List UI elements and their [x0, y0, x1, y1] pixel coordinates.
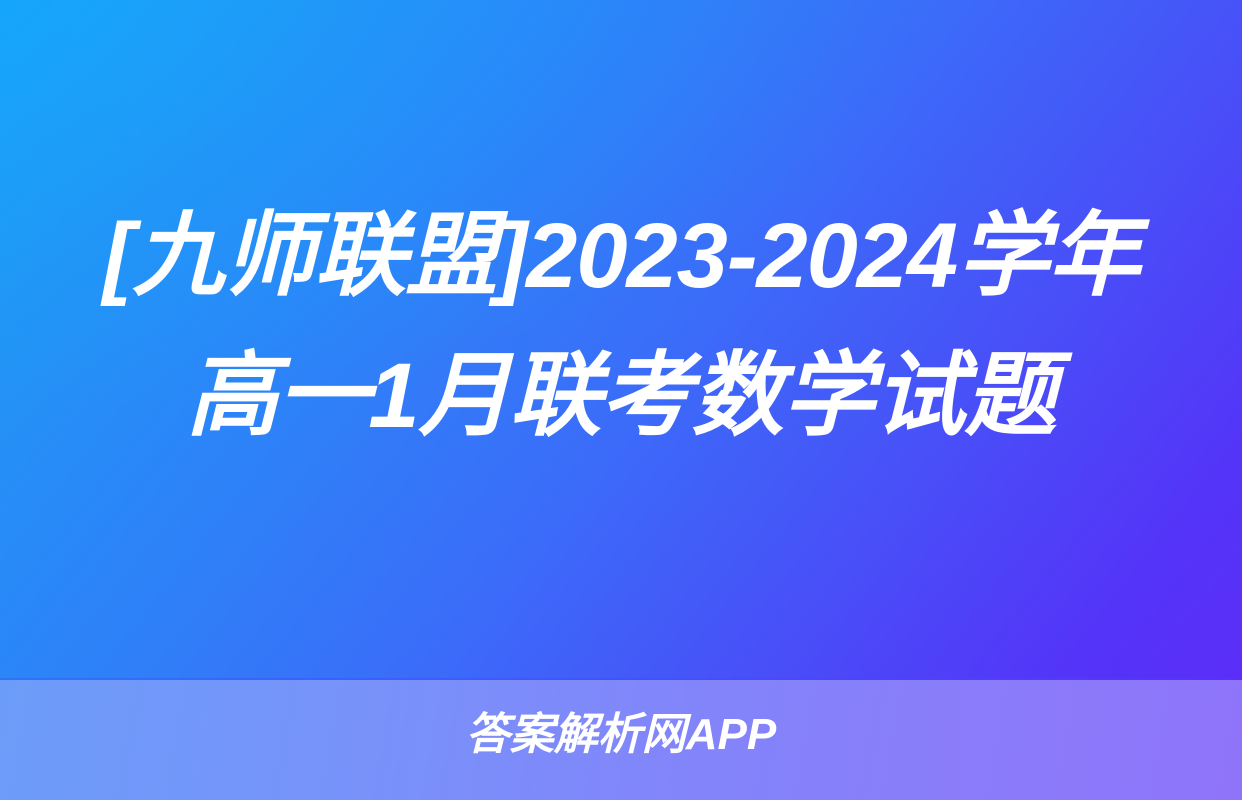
page-title: [九师联盟]2023-2024学年高一1月联考数学试题 — [81, 186, 1161, 466]
exam-cover-banner: [九师联盟]2023-2024学年高一1月联考数学试题 答案解析网APP — [0, 0, 1242, 800]
title-block: [九师联盟]2023-2024学年高一1月联考数学试题 — [81, 186, 1161, 492]
footer-brand-label: 答案解析网APP — [466, 713, 776, 757]
footer-brand-bar: 答案解析网APP — [0, 678, 1242, 800]
footer-top-divider — [0, 678, 1242, 680]
hero-gradient-panel: [九师联盟]2023-2024学年高一1月联考数学试题 — [0, 0, 1242, 678]
